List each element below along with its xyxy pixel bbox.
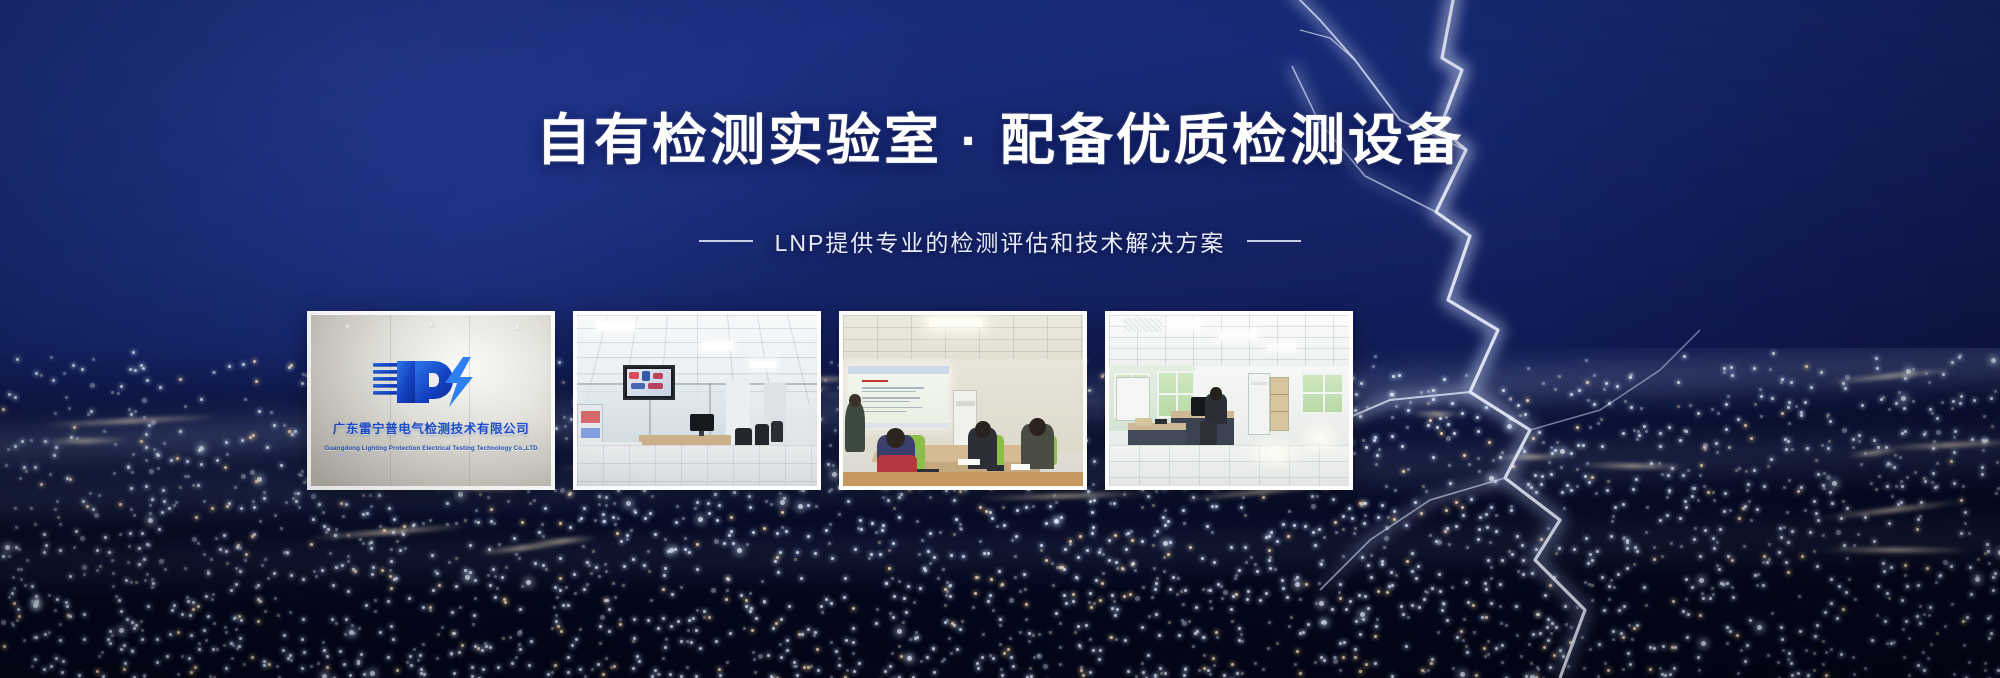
photo-image-meeting-room: [843, 315, 1083, 486]
wall-monitor: [623, 365, 676, 401]
company-name-en: Guangdong Lighting Protection Electrical…: [324, 445, 537, 452]
gallery-photo-company-sign[interactable]: 广东雷宁普电气检测技术有限公司 Guangdong Lighting Prote…: [307, 311, 555, 490]
office-window-right: [1301, 373, 1344, 414]
gallery-photo-meeting-room[interactable]: [839, 311, 1087, 490]
rule-right-icon: [1247, 240, 1301, 242]
hero-banner: 自有检测实验室 · 配备优质检测设备 LNP提供专业的检测评估和技术解决方案: [0, 0, 2000, 678]
gallery-photo-office[interactable]: [1105, 311, 1353, 490]
photo-image-office: [1109, 315, 1349, 486]
lnp-logo-icon: [371, 353, 491, 411]
rule-left-icon: [699, 240, 753, 242]
wood-shelf: [1270, 377, 1289, 432]
test-chamber: [1116, 377, 1150, 421]
company-name-cn: 广东雷宁普电气检测技术有限公司: [333, 418, 530, 437]
banner-subtitle: LNP提供专业的检测评估和技术解决方案: [0, 224, 2000, 258]
person-presenter: [845, 401, 864, 452]
photo-image-company-sign: 广东雷宁普电气检测技术有限公司 Guangdong Lighting Prote…: [311, 315, 551, 486]
photo-gallery: 广东雷宁普电气检测技术有限公司 Guangdong Lighting Prote…: [307, 311, 1353, 490]
banner-subtitle-text: LNP提供专业的检测评估和技术解决方案: [775, 224, 1226, 258]
photo-image-laboratory: [577, 315, 817, 486]
gallery-photo-laboratory[interactable]: [573, 311, 821, 490]
banner-headline: 自有检测实验室 · 配备优质检测设备: [0, 108, 2000, 173]
